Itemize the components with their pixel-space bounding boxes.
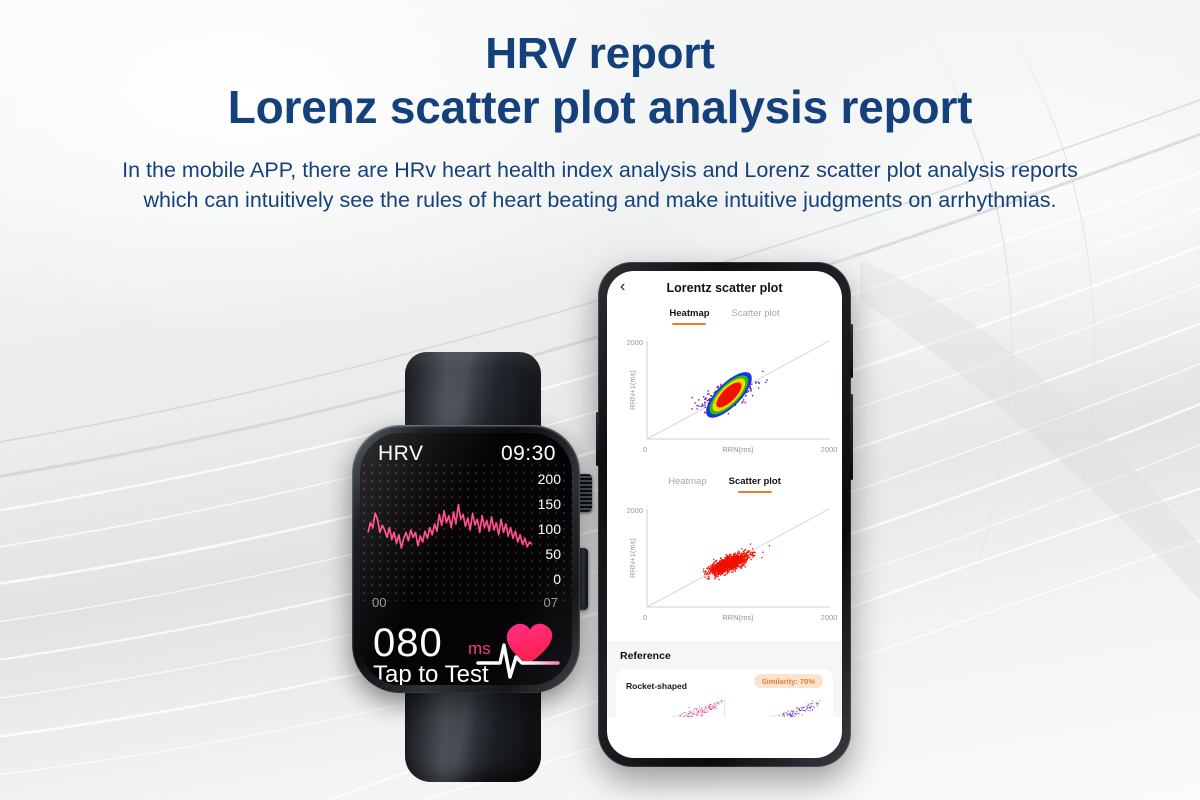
chart1-tab-bar: Heatmap Scatter plot [607,305,842,323]
page-title-line-2: Lorenz scatter plot analysis report [0,80,1200,134]
reference-mini-chart-1 [626,700,724,717]
watch-hrv-value: 080 [373,621,443,666]
reference-card[interactable]: Rocket-shaped Similarity: 70% [616,669,833,717]
reference-section: Reference Rocket-shaped Similarity: 70% [607,641,842,717]
headings-block: HRV report Lorenz scatter plot analysis … [0,0,1200,215]
chart2-tab-bar: Heatmap Scatter plot [607,473,842,491]
watch-tap-to-test-button[interactable]: Tap to Test [373,661,489,685]
svg-text:RRN+1(ms): RRN+1(ms) [628,370,637,410]
back-icon[interactable]: ‹ [620,279,625,295]
svg-text:0: 0 [643,613,647,622]
heart-icon [476,617,560,683]
watch-hrv-waveform [366,467,534,593]
svg-text:2000: 2000 [821,445,838,454]
svg-text:0: 0 [643,445,647,454]
svg-text:RRN+1(ms): RRN+1(ms) [628,538,637,578]
svg-text:2000: 2000 [626,338,643,347]
smartwatch-device: HRV 09:30 200 150 100 50 0 00 07 080 ms … [349,352,599,782]
watch-x-tick-end: 07 [544,595,558,610]
tab-heatmap-1[interactable]: Heatmap [669,308,709,323]
phone-screen[interactable]: ‹ Lorentz scatter plot Heatmap Scatter p… [607,271,842,758]
page-title-line-1: HRV report [0,28,1200,80]
subtitle-line-1: In the mobile APP, there are HRv heart h… [26,156,1174,186]
watch-x-tick-start: 00 [372,595,386,610]
phone-assistant-button[interactable] [596,412,599,466]
lorenz-scatter-chart[interactable]: 200002000RRN(ms)RRN+1(ms) [607,495,842,635]
phone-volume-button[interactable] [850,394,853,480]
reference-title: Reference [607,650,842,662]
reference-mini-charts [626,700,823,717]
subtitle-line-2: which can intuitively see the rules of h… [26,186,1174,216]
tab-scatter-plot-2[interactable]: Scatter plot [729,476,781,491]
similarity-badge: Similarity: 70% [754,674,823,688]
watch-case: HRV 09:30 200 150 100 50 0 00 07 080 ms … [352,425,580,693]
svg-text:2000: 2000 [821,613,838,622]
phone-power-button[interactable] [850,324,853,378]
svg-text:RRN(ms): RRN(ms) [722,445,754,454]
scatter-svg: 200002000RRN(ms)RRN+1(ms) [607,495,842,635]
lorenz-heatmap-chart[interactable]: 200002000RRN(ms)RRN+1(ms) [607,327,842,467]
svg-text:RRN(ms): RRN(ms) [722,613,754,622]
reference-mini-chart-2 [724,700,823,717]
page-subtitle: In the mobile APP, there are HRv heart h… [0,156,1200,215]
heatmap-svg: 200002000RRN(ms)RRN+1(ms) [607,327,842,467]
watch-chart-x-axis: 00 07 [372,595,558,610]
app-header: ‹ Lorentz scatter plot [607,271,842,305]
watch-app-label: HRV [378,442,423,466]
watch-clock: 09:30 [501,442,556,466]
watch-screen[interactable]: HRV 09:30 200 150 100 50 0 00 07 080 ms … [360,433,572,685]
tab-scatter-plot-1[interactable]: Scatter plot [732,308,780,323]
app-title: Lorentz scatter plot [667,281,783,295]
tab-heatmap-2[interactable]: Heatmap [668,476,707,491]
smartphone-device: ‹ Lorentz scatter plot Heatmap Scatter p… [598,262,851,767]
reference-card-name: Rocket-shaped [626,681,687,691]
svg-text:2000: 2000 [626,506,643,515]
